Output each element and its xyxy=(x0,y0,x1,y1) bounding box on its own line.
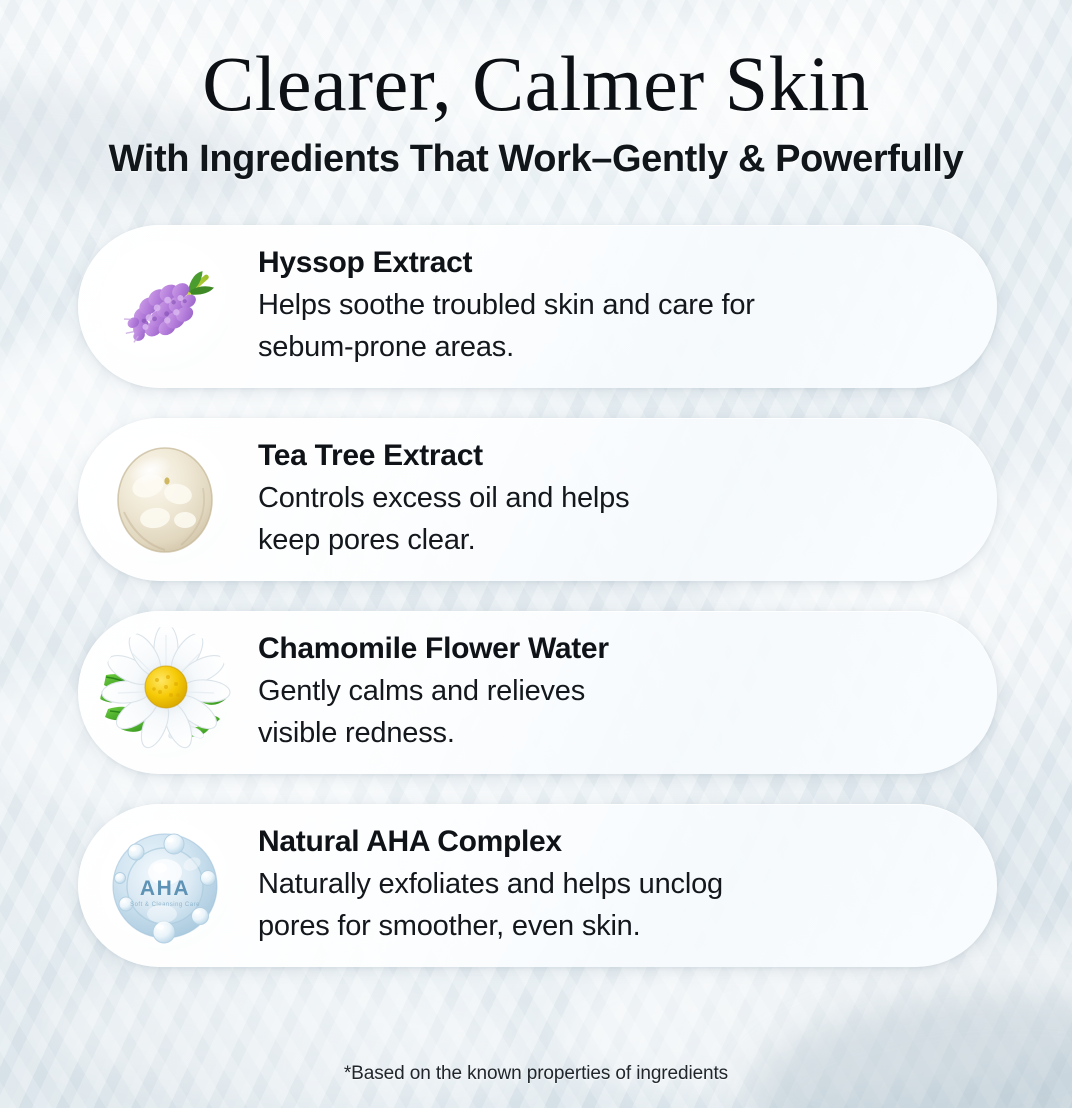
ingredient-card-hyssop: Hyssop Extract Helps soothe troubled ski… xyxy=(78,225,997,388)
footnote-disclaimer: *Based on the known properties of ingred… xyxy=(0,1063,1072,1085)
ingredient-title: Chamomile Flower Water xyxy=(258,632,609,666)
ingredient-card-chamomile: Chamomile Flower Water Gently calms and … xyxy=(78,611,997,774)
ingredient-card-list: Hyssop Extract Helps soothe troubled ski… xyxy=(0,225,1072,967)
ingredient-title: Natural AHA Complex xyxy=(258,825,723,859)
ingredient-description: Helps soothe troubled skin and care for … xyxy=(258,284,755,368)
ingredient-title: Tea Tree Extract xyxy=(258,439,629,473)
card-text: Natural AHA Complex Naturally exfoliates… xyxy=(258,825,753,948)
card-text: Chamomile Flower Water Gently calms and … xyxy=(258,632,639,755)
aha-capsule-icon: AHA Soft & Cleansing Care xyxy=(100,820,231,951)
infographic-page: Clearer, Calmer Skin With Ingredients Th… xyxy=(0,0,1072,1108)
ingredient-title: Hyssop Extract xyxy=(258,246,755,280)
page-title: Clearer, Calmer Skin xyxy=(0,46,1072,122)
hyssop-flower-icon xyxy=(100,241,231,372)
ingredient-description: Naturally exfoliates and helps unclog po… xyxy=(258,863,723,947)
card-text: Hyssop Extract Helps soothe troubled ski… xyxy=(258,246,785,369)
ingredient-card-tea-tree: Tea Tree Extract Controls excess oil and… xyxy=(78,418,997,581)
ingredient-card-natural-aha: AHA Soft & Cleansing Care Natural AHA Co… xyxy=(78,804,997,967)
ingredient-description: Controls excess oil and helps keep pores… xyxy=(258,477,629,561)
header: Clearer, Calmer Skin With Ingredients Th… xyxy=(0,0,1072,181)
chamomile-flower-icon xyxy=(100,627,231,758)
aha-capsule-label: AHA xyxy=(140,877,190,900)
page-subtitle: With Ingredients That Work–Gently & Powe… xyxy=(0,138,1072,181)
card-text: Tea Tree Extract Controls excess oil and… xyxy=(258,439,659,562)
tea-tree-gel-drop-icon xyxy=(100,434,231,565)
ingredient-description: Gently calms and relieves visible rednes… xyxy=(258,670,609,754)
